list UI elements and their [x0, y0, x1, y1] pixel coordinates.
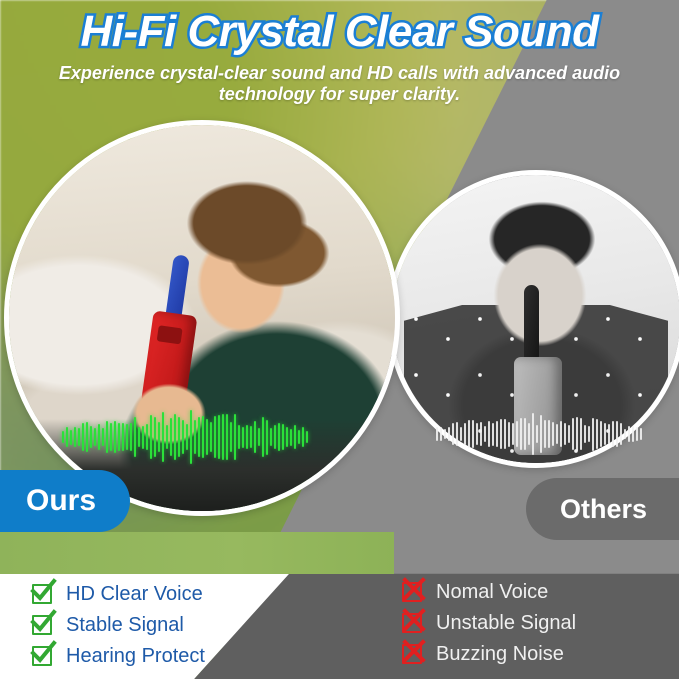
others-badge: Others — [526, 478, 679, 540]
check-icon — [32, 615, 52, 635]
page-title: Hi-Fi Crystal Clear Sound — [0, 8, 679, 56]
ours-badge-label: Ours — [26, 484, 96, 518]
list-item-label: Hearing Protect — [66, 646, 205, 666]
page-subtitle: Experience crystal-clear sound and HD ca… — [0, 63, 679, 107]
list-item: Unstable Signal — [402, 607, 576, 638]
black-antenna — [524, 285, 539, 363]
others-badge-label: Others — [560, 494, 647, 525]
check-icon — [32, 646, 52, 666]
cross-icon — [402, 613, 422, 633]
ours-waveform — [62, 410, 308, 464]
list-item-label: HD Clear Voice — [66, 584, 203, 604]
header: Hi-Fi Crystal Clear Sound Experience cry… — [0, 8, 679, 106]
product-infographic: Hi-Fi Crystal Clear Sound Experience cry… — [0, 0, 679, 679]
list-item-label: Unstable Signal — [436, 613, 576, 633]
list-item-label: Buzzing Noise — [436, 644, 564, 664]
ours-badge: Ours — [0, 470, 130, 532]
others-feature-list: Nomal Voice Unstable Signal Buzzing Nois… — [402, 576, 576, 669]
others-waveform — [436, 412, 642, 456]
list-item: Nomal Voice — [402, 576, 576, 607]
list-item: Hearing Protect — [32, 640, 205, 671]
list-item-label: Stable Signal — [66, 615, 184, 635]
cross-icon — [402, 582, 422, 602]
child-face — [478, 227, 602, 357]
list-item-label: Nomal Voice — [436, 582, 548, 602]
list-item: Stable Signal — [32, 609, 205, 640]
check-icon — [32, 584, 52, 604]
list-item: HD Clear Voice — [32, 578, 205, 609]
cross-icon — [402, 644, 422, 664]
ours-feature-list: HD Clear Voice Stable Signal Hearing Pro… — [32, 578, 205, 671]
green-grass-strip — [0, 532, 394, 574]
list-item: Buzzing Noise — [402, 638, 576, 669]
